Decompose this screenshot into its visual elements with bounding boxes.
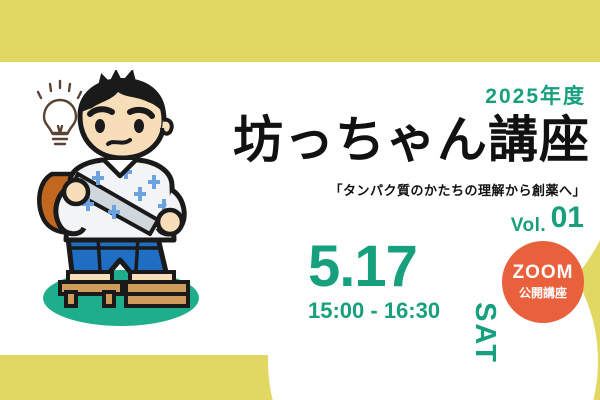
- event-date: 5.17: [308, 238, 417, 296]
- volume-prefix: Vol.: [511, 215, 546, 236]
- day-of-week-text: SAT: [470, 288, 499, 378]
- zoom-badge: ZOOM 公開講座: [502, 241, 584, 323]
- volume-number: 01: [551, 201, 584, 234]
- right-hand: [158, 210, 182, 234]
- right-geta-base: [126, 294, 188, 306]
- botchan-character-illustration: [8, 70, 232, 328]
- left-geta-tooth-2: [104, 292, 114, 306]
- top-yellow-band: [0, 0, 600, 62]
- page-title: 坊っちゃん講座: [233, 113, 590, 167]
- zoom-badge-sub: 公開講座: [519, 286, 567, 300]
- ear: [162, 120, 172, 134]
- event-time-range: 15:00 - 16:30: [308, 298, 440, 324]
- left-eye: [95, 119, 105, 133]
- mouth: [108, 140, 130, 144]
- event-day-of-week: SAT: [455, 235, 499, 325]
- lightbulb-icon: [38, 81, 81, 144]
- right-eye: [134, 119, 144, 133]
- zoom-badge-main: ZOOM: [513, 263, 574, 284]
- volume-label: Vol. 01: [511, 203, 584, 235]
- seminar-poster: 2025年度 坊っちゃん講座 「タンパク質のかたちの理解から創薬へ」 Vol. …: [0, 0, 600, 400]
- left-geta-tooth-1: [66, 292, 76, 306]
- subtitle: 「タンパク質のかたちの理解から創薬へ」: [329, 180, 586, 199]
- year-label: 2025年度: [485, 80, 586, 110]
- left-hand: [64, 180, 88, 204]
